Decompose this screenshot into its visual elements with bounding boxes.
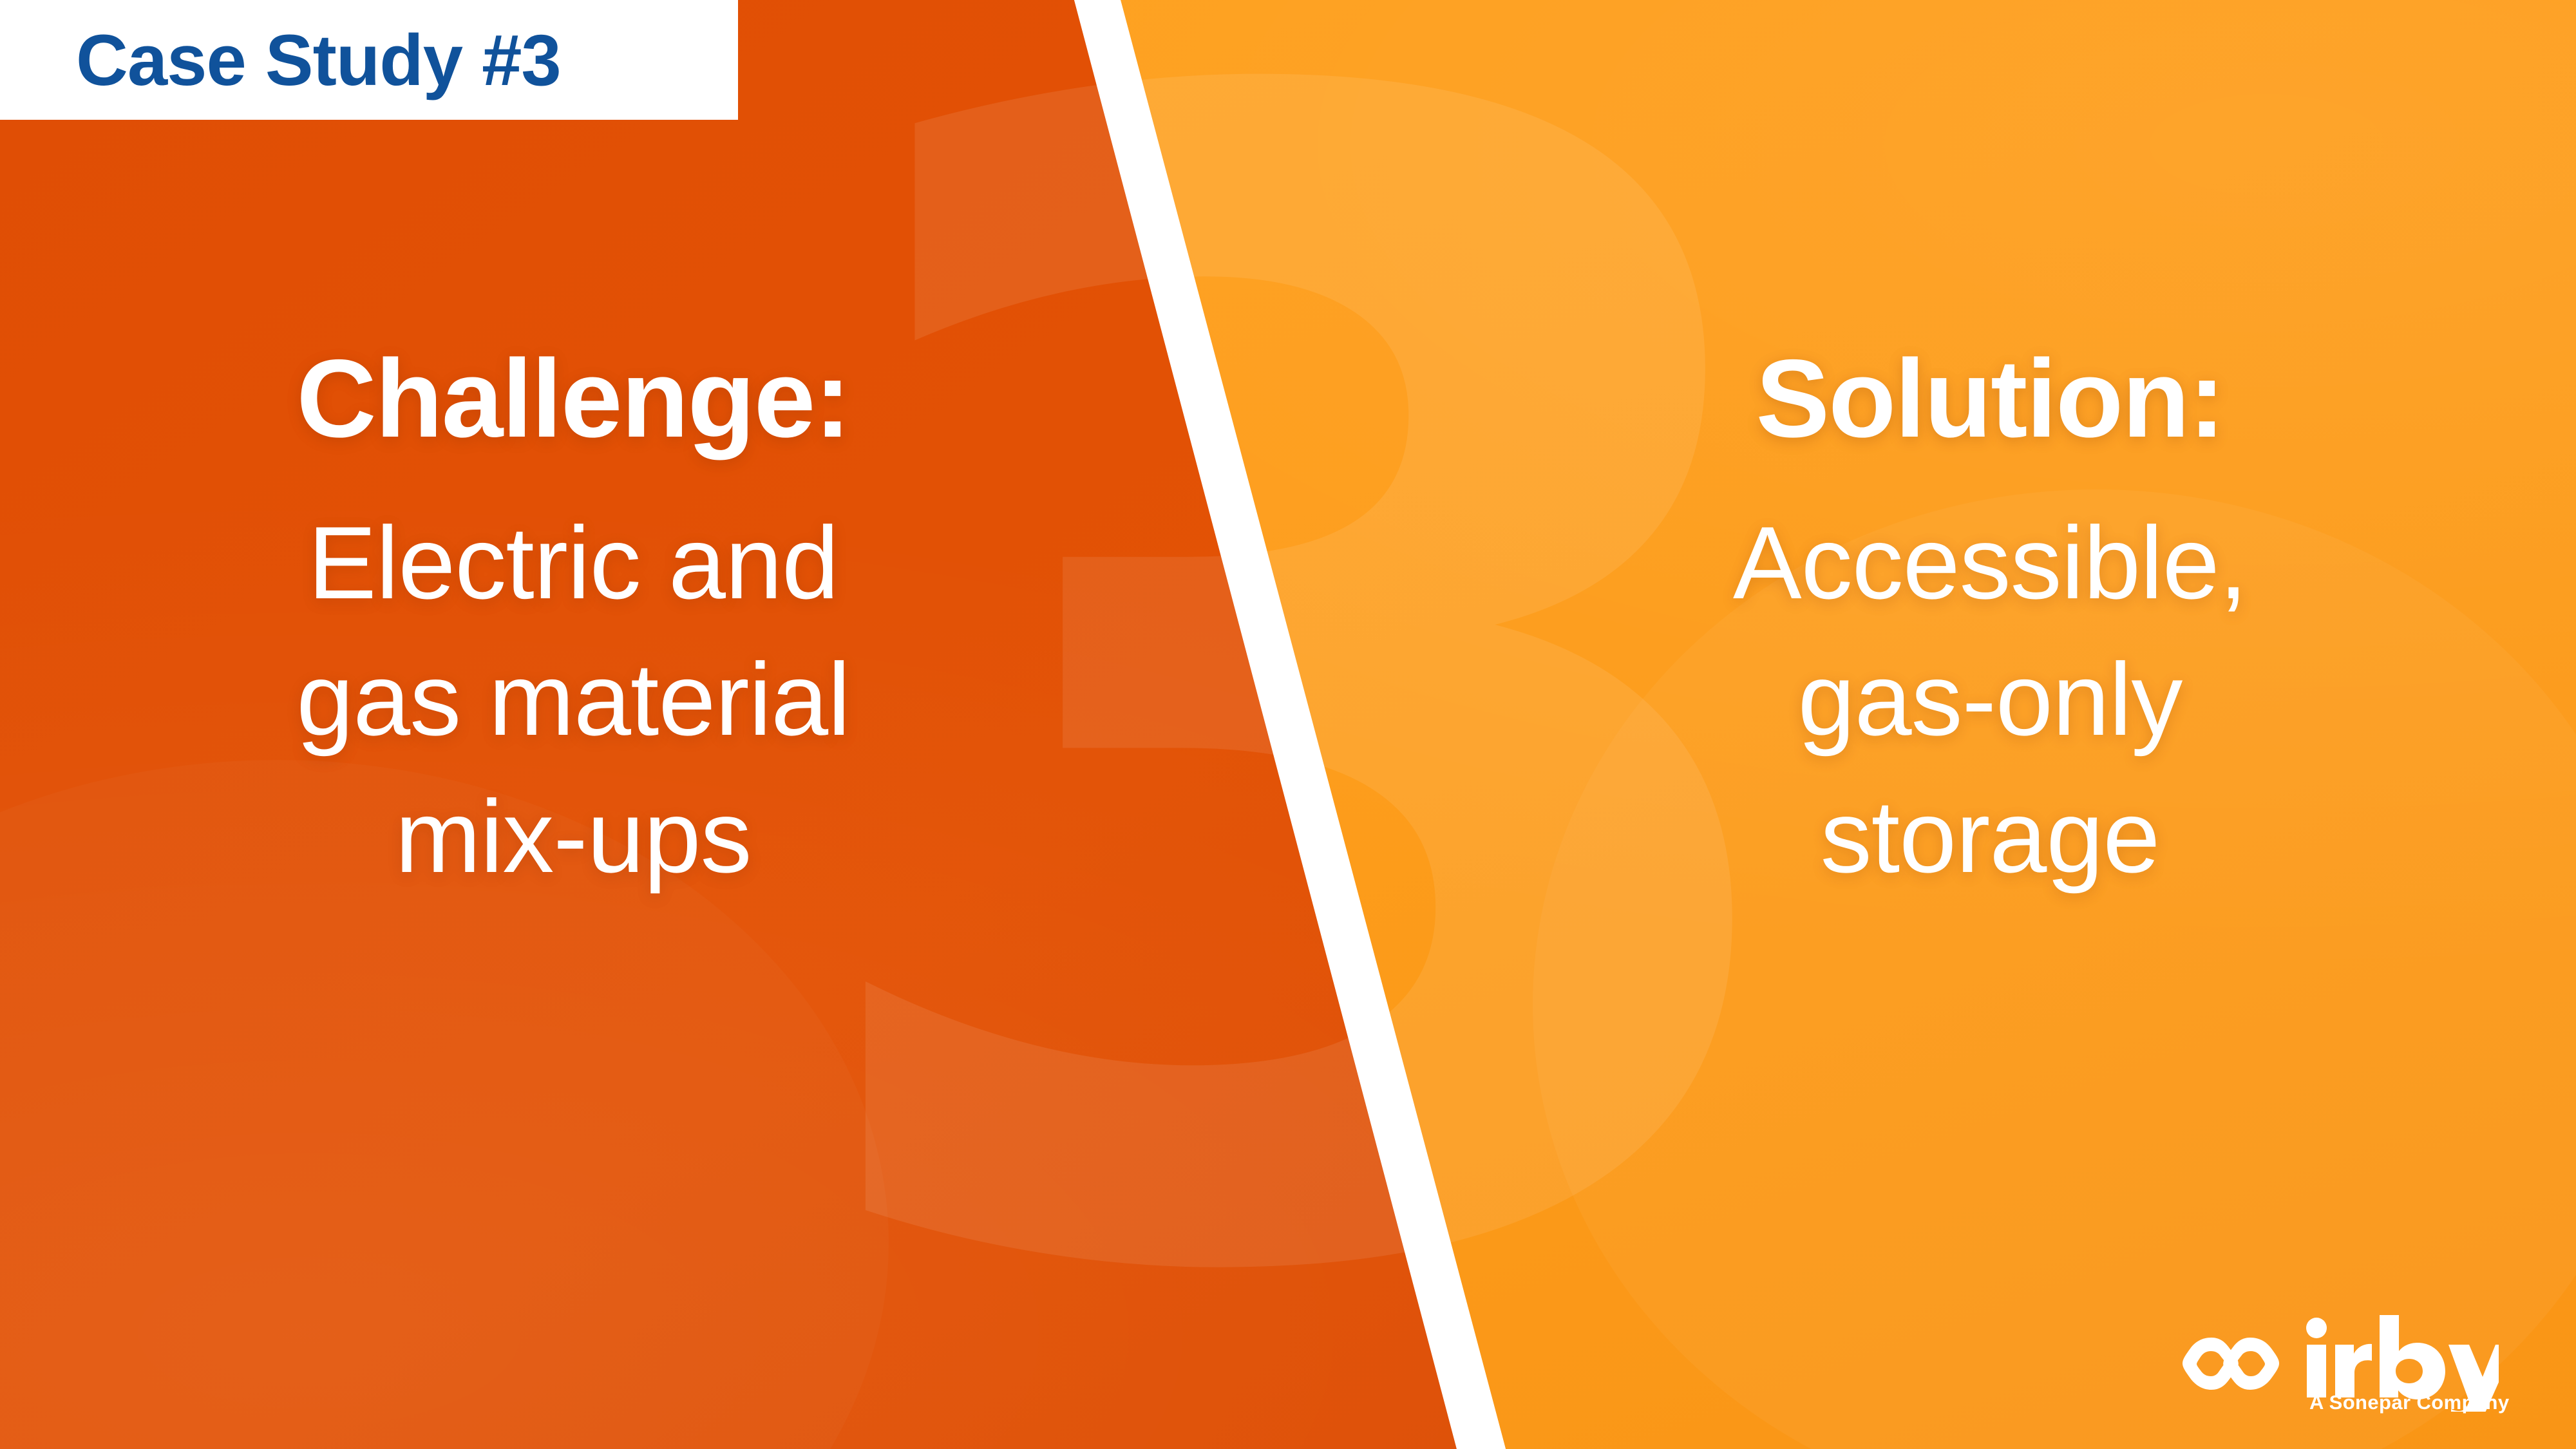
solution-body: Accessible, gas-only storage [1558,495,2421,905]
challenge-body: Electric and gas material mix-ups [116,495,1030,905]
case-study-badge-label: Case Study #3 [76,19,561,102]
irby-wordmark-block: A Sonepar Company [2306,1315,2499,1412]
case-study-badge: Case Study #3 [0,0,738,120]
challenge-body-line-2: gas material [116,631,1030,768]
irby-logo: A Sonepar Company [2174,1315,2499,1412]
solution-heading: Solution: [1558,335,2421,464]
solution-text-column: Solution: Accessible, gas-only storage [1558,335,2421,905]
irby-tagline: A Sonepar Company [2309,1391,2510,1414]
solution-body-line-3: storage [1558,768,2421,905]
challenge-text-column: Challenge: Electric and gas material mix… [116,335,1030,905]
solution-body-line-2: gas-only [1558,631,2421,768]
challenge-body-line-1: Electric and [116,495,1030,632]
case-study-slide: 3 3 Case Study #3 Challenge: Electric an… [0,0,2576,1449]
solution-body-line-1: Accessible, [1558,495,2421,632]
challenge-body-line-3: mix-ups [116,768,1030,905]
challenge-heading: Challenge: [116,335,1030,464]
irby-double-loop-icon [2174,1321,2287,1406]
